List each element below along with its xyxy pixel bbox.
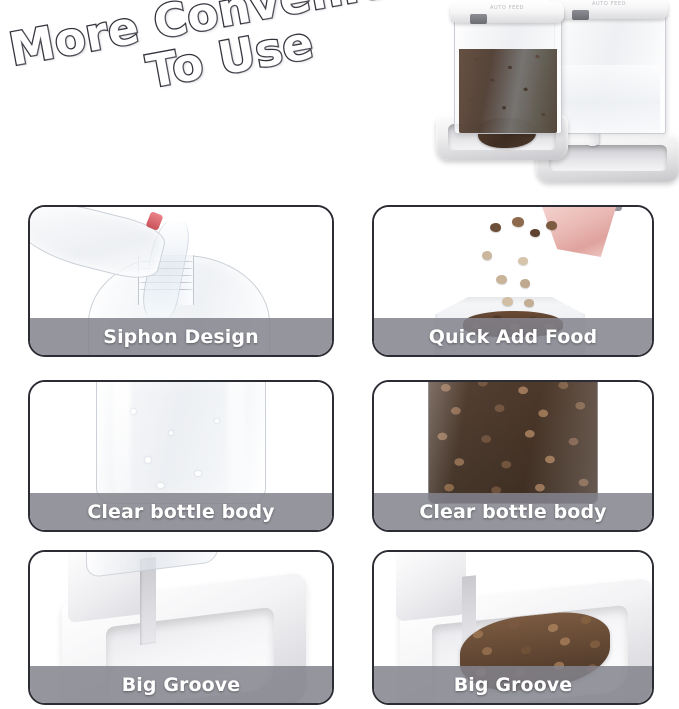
water-droplet (169, 431, 173, 435)
pink-scoop-icon (540, 207, 618, 257)
falling-pellet (496, 275, 507, 284)
falling-pellet (520, 279, 530, 288)
product-photo: AUTO FEED AUTO FEED (432, 0, 679, 192)
falling-pellet (502, 297, 513, 306)
panel-label-text: Big Groove (454, 674, 573, 696)
panel-label-bar: Clear bottle body (30, 493, 332, 530)
headline-line-2: To Use (15, 0, 446, 120)
feature-panel-clear-bottle-body-food[interactable]: Clear bottle body (372, 380, 654, 532)
bowl-riser (396, 552, 466, 622)
panel-label-text: Clear bottle body (419, 501, 606, 523)
hero-banner: More Convenient To Use AUTO FEED (0, 0, 679, 200)
glass-highlight (227, 382, 245, 493)
falling-pellet (524, 299, 534, 307)
panel-label-bar: Big Groove (30, 666, 332, 703)
panel-label-text: Quick Add Food (429, 326, 598, 348)
water-droplet (145, 457, 151, 463)
panel-label-text: Clear bottle body (87, 501, 274, 523)
food-tank (454, 8, 562, 134)
falling-pellet (490, 223, 501, 232)
panel-label-bar: Clear bottle body (374, 493, 652, 530)
food-hopper-outlet (470, 552, 556, 580)
transparent-water-reservoir (96, 382, 266, 504)
food-level (459, 49, 557, 133)
falling-pellet (546, 221, 557, 230)
product-food-unit: AUTO FEED (432, 0, 578, 178)
falling-pellet (512, 217, 524, 227)
feature-panel-grid: Siphon Design Quick Add Food (0, 202, 679, 709)
panel-label-text: Siphon Design (103, 326, 258, 348)
feature-panel-big-groove-water[interactable]: Big Groove (28, 550, 334, 705)
water-droplet (157, 483, 164, 488)
lid-brand-text: AUTO FEED (450, 5, 564, 11)
glass-highlight (429, 382, 597, 503)
feature-panel-quick-add-food[interactable]: Quick Add Food (372, 205, 654, 357)
panel-label-bar: Big Groove (374, 666, 652, 703)
falling-pellet (530, 229, 540, 237)
panel-label-bar: Siphon Design (30, 318, 332, 355)
water-droplet (195, 471, 201, 476)
panel-label-bar: Quick Add Food (374, 318, 652, 355)
falling-pellet (518, 257, 528, 265)
falling-pellet (482, 251, 492, 260)
panel-label-text: Big Groove (122, 674, 241, 696)
feature-panel-big-groove-food[interactable]: Big Groove (372, 550, 654, 705)
food-tank-lid: AUTO FEED (450, 2, 564, 23)
page-title: More Convenient To Use (6, 0, 446, 120)
glass-highlight (113, 382, 131, 493)
headline-line-1: More Convenient (6, 0, 437, 74)
feature-panel-siphon-design[interactable]: Siphon Design (28, 205, 334, 357)
water-droplet (215, 419, 219, 423)
water-droplet (131, 409, 136, 414)
feature-panel-clear-bottle-body-water[interactable]: Clear bottle body (28, 380, 334, 532)
food-lid-latch (470, 14, 487, 24)
transparent-food-reservoir (428, 382, 598, 504)
